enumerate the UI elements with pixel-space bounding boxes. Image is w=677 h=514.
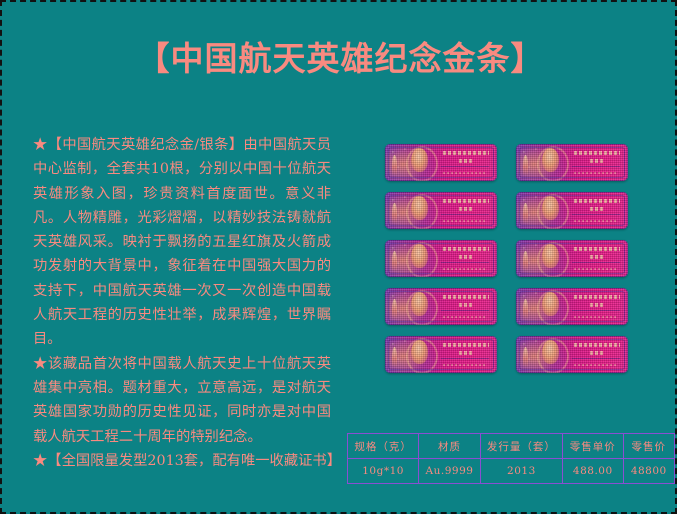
description-block: ★【中国航天英雄纪念金/银条】由中国航天员中心监制，全套共10根，分别以中国十位… (33, 133, 331, 473)
specification-table: 规格（克） 材质 发行量（套） 零售单价 零售价 10g*10 Au.9999 … (347, 433, 675, 484)
description-paragraph-1: ★【中国航天英雄纪念金/银条】由中国航天员中心监制，全套共10根，分别以中国十位… (33, 133, 331, 352)
table-header-row: 规格（克） 材质 发行量（套） 零售单价 零售价 (348, 434, 675, 459)
page-title: 【中国航天英雄纪念金条】 (2, 38, 677, 80)
table-header-issue-qty: 发行量（套） (480, 434, 562, 459)
bar-frame (519, 339, 625, 370)
gold-bar-item[interactable] (385, 144, 497, 181)
table-cell-material: Au.9999 (419, 459, 481, 484)
poster-page: 【中国航天英雄纪念金条】 ★【中国航天英雄纪念金/银条】由中国航天员中心监制，全… (0, 0, 677, 514)
bar-frame (519, 291, 625, 322)
bar-frame (388, 339, 494, 370)
gold-bar-item[interactable] (385, 336, 497, 373)
bar-frame (519, 195, 625, 226)
description-paragraph-3: ★【全国限量发型2013套，配有唯一收藏证书】 (33, 449, 331, 473)
table-cell-retail-price: 48800 (623, 459, 674, 484)
bar-frame (519, 243, 625, 274)
gold-bar-item[interactable] (516, 192, 628, 229)
table-header-retail-price: 零售价 (623, 434, 674, 459)
gold-bar-item[interactable] (516, 240, 628, 277)
bar-frame (388, 291, 494, 322)
gold-bar-item[interactable] (385, 192, 497, 229)
bar-frame (388, 243, 494, 274)
gold-bar-item[interactable] (516, 336, 628, 373)
bar-frame (388, 195, 494, 226)
table-header-spec: 规格（克） (348, 434, 419, 459)
gold-bar-item[interactable] (385, 288, 497, 325)
bar-frame (388, 147, 494, 178)
table-cell-spec: 10g*10 (348, 459, 419, 484)
table-cell-unit-price: 488.00 (563, 459, 624, 484)
gold-bar-item[interactable] (385, 240, 497, 277)
gold-bar-item[interactable] (516, 144, 628, 181)
table-row: 10g*10 Au.9999 2013 488.00 48800 (348, 459, 675, 484)
table-header-material: 材质 (419, 434, 481, 459)
gold-bar-gallery (385, 144, 628, 373)
table-cell-issue-qty: 2013 (480, 459, 562, 484)
bar-frame (519, 147, 625, 178)
table-header-unit-price: 零售单价 (563, 434, 624, 459)
gold-bar-item[interactable] (516, 288, 628, 325)
description-paragraph-2: ★该藏品首次将中国载人航天史上十位航天英雄集中亮相。题材重大，立意高远，是对航天… (33, 352, 331, 449)
